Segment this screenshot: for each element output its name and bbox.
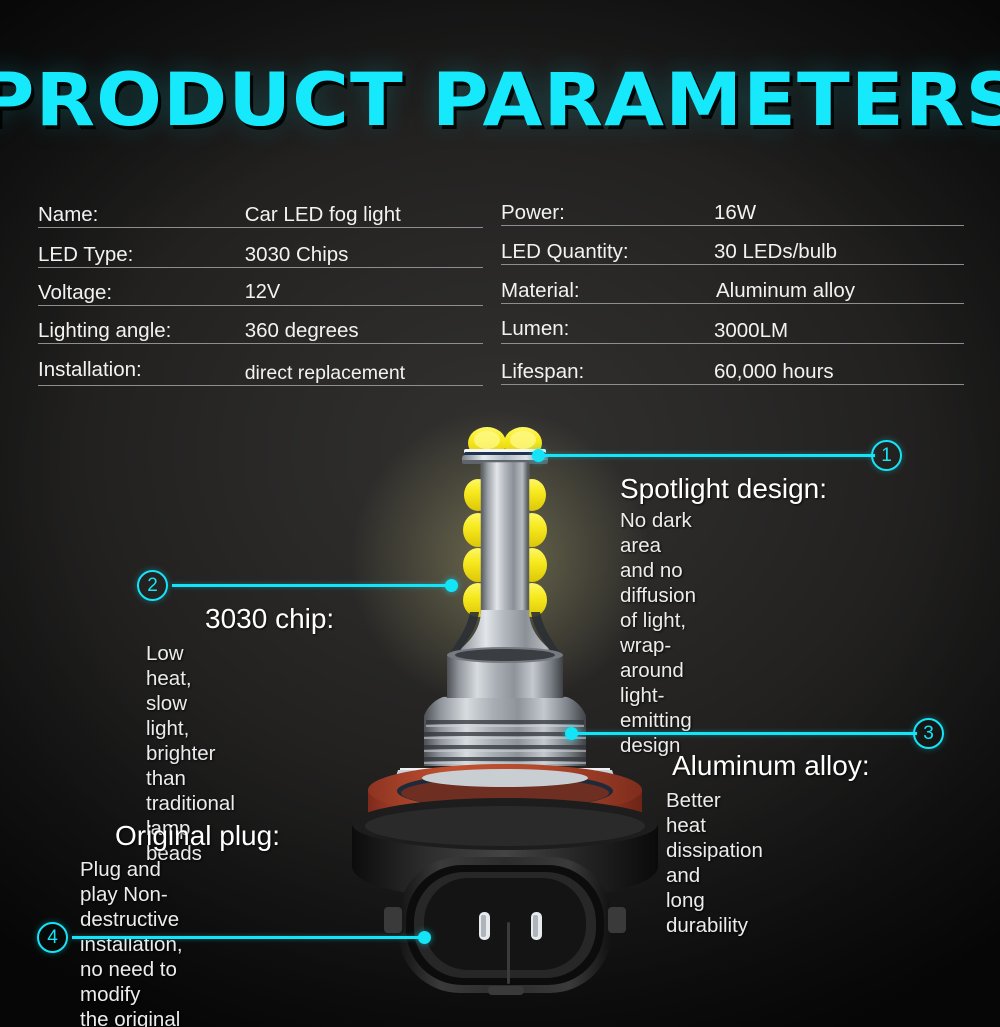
spec-value: 3030 Chips (243, 243, 483, 267)
callout-2-heading: 3030 chip: (205, 603, 334, 635)
spec-row: Power: 16W (501, 190, 964, 226)
spec-row: Lighting angle: 360 degrees (38, 306, 483, 344)
spec-row: Material: Aluminum alloy (501, 265, 964, 304)
product-parameters-infographic: PRODUCT PARAMETERS (0, 0, 1000, 1027)
spec-key: LED Type: (38, 243, 243, 267)
callout-3-leader-line (573, 732, 917, 735)
spec-key: Name: (38, 203, 243, 227)
callout-3-heading: Aluminum alloy: (672, 750, 870, 782)
spec-table-left-column: Name: Car LED fog light LED Type: 3030 C… (38, 190, 501, 386)
h11-connector-plug (384, 857, 626, 995)
callout-1-leader-line (540, 454, 875, 457)
callout-4-leader-line (72, 936, 424, 939)
callout-4-body: Plug and play Non-destructive installati… (80, 857, 183, 1027)
callout-4-badge: 4 (37, 922, 68, 953)
aluminum-heatsink (424, 697, 586, 766)
spec-value: 30 LEDs/bulb (714, 240, 964, 264)
spec-table-right-column: Power: 16W LED Quantity: 30 LEDs/bulb Ma… (501, 190, 964, 386)
spec-table: Name: Car LED fog light LED Type: 3030 C… (38, 190, 964, 386)
spec-row: Voltage: 12V (38, 268, 483, 306)
spec-row: LED Quantity: 30 LEDs/bulb (501, 226, 964, 265)
spec-value: Aluminum alloy (714, 279, 964, 303)
spec-key: Lighting angle: (38, 319, 243, 343)
spec-row: LED Type: 3030 Chips (38, 228, 483, 268)
callout-1-heading: Spotlight design: (620, 473, 827, 505)
spec-value: 360 degrees (243, 319, 483, 343)
callout-1-body: No dark area and no diffusion of light, … (620, 508, 696, 758)
spec-key: Material: (501, 279, 714, 303)
callout-3-badge: 3 (913, 718, 944, 749)
callout-4-heading: Original plug: (115, 820, 280, 852)
spec-row: Lifespan: 60,000 hours (501, 344, 964, 385)
callout-2-leader-dot (445, 579, 458, 592)
page-title: PRODUCT PARAMETERS (0, 58, 1000, 143)
spec-key: LED Quantity: (501, 240, 714, 264)
spec-value: 3000LM (714, 319, 964, 343)
callout-4-leader-dot (418, 931, 431, 944)
spec-value: 16W (714, 201, 964, 225)
spec-row: Name: Car LED fog light (38, 190, 483, 228)
spec-row: Lumen: 3000LM (501, 304, 964, 344)
callout-2-leader-line (172, 584, 453, 587)
spec-row: Installation: direct replacement (38, 344, 483, 386)
callout-1-badge: 1 (871, 440, 902, 471)
spec-key: Lifespan: (501, 360, 714, 384)
bulb-neck (447, 647, 563, 700)
spec-key: Voltage: (38, 281, 243, 305)
spec-key: Power: (501, 201, 714, 225)
callout-2-badge: 2 (137, 570, 168, 601)
spec-value: 12V (243, 281, 483, 305)
spec-key: Lumen: (501, 317, 714, 343)
callout-3-body: Better heat dissipation and long durabil… (666, 788, 763, 938)
spec-value: Car LED fog light (243, 203, 483, 227)
spec-value: 60,000 hours (714, 360, 964, 384)
spec-key: Installation: (38, 358, 243, 385)
spec-value: direct replacement (243, 362, 483, 385)
